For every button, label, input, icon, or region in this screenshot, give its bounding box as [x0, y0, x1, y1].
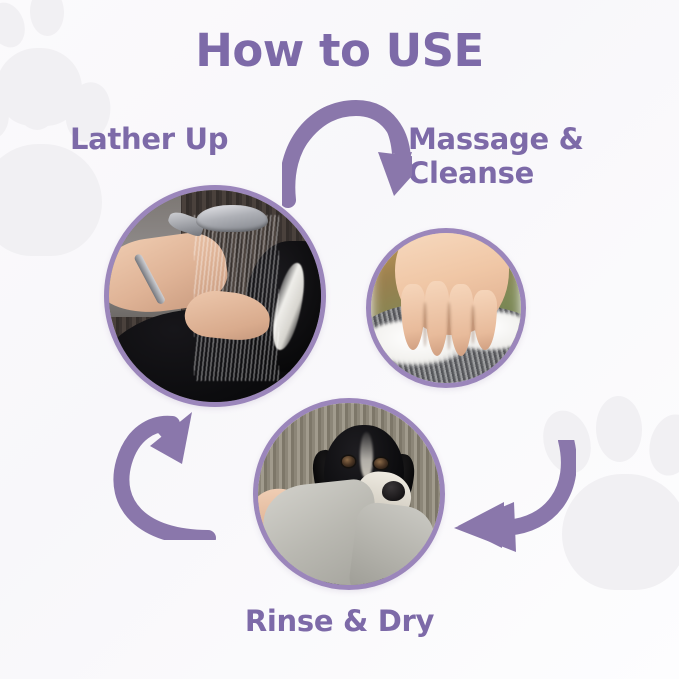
step-label-massage-cleanse: Massage & Cleanse: [408, 122, 584, 190]
photo-dog-in-towel: [258, 403, 440, 585]
page-title: How to USE: [0, 24, 679, 77]
step-label-rinse-dry: Rinse & Dry: [0, 604, 679, 638]
arrow-rinse-to-lather-body: [112, 412, 228, 540]
photo-hand-lather-fur: [371, 233, 521, 383]
step-photo-lather-up: [104, 185, 326, 407]
photo-shower-dog: [109, 190, 321, 402]
step-photo-massage-cleanse: [366, 228, 526, 388]
step-label-lather-up: Lather Up: [70, 122, 228, 156]
how-to-use-infographic: How to USE Lather Up Massage & Cleanse R…: [0, 0, 679, 679]
step-photo-rinse-dry: [253, 398, 445, 590]
arrow-massage-to-rinse-body: [452, 440, 576, 552]
arrow-lather-to-massage-body: [282, 100, 412, 212]
